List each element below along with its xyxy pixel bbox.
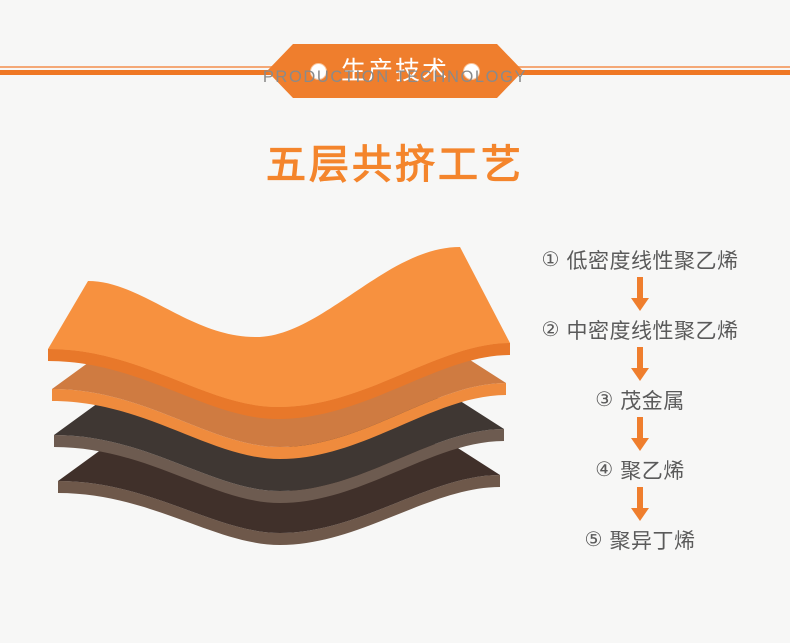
list-item: ② 中密度线性聚乙烯	[500, 315, 780, 345]
legend-number: ③	[595, 390, 613, 410]
list-item: ① 低密度线性聚乙烯	[500, 245, 780, 275]
legend-number: ①	[542, 250, 560, 270]
legend-label: 聚异丁烯	[609, 525, 695, 555]
arrow-down-icon	[500, 415, 780, 455]
legend-number: ⑤	[585, 530, 603, 550]
arrow-down-icon	[500, 345, 780, 385]
legend-label: 低密度线性聚乙烯	[566, 245, 738, 275]
legend-label: 茂金属	[620, 385, 685, 415]
legend-label: 中密度线性聚乙烯	[566, 315, 738, 345]
list-item: ④ 聚乙烯	[500, 455, 780, 485]
list-item: ⑤ 聚异丁烯	[500, 525, 780, 555]
legend-label: 聚乙烯	[620, 455, 685, 485]
legend-number: ②	[542, 320, 560, 340]
layer-stack-svg	[30, 225, 530, 545]
arrow-down-icon	[500, 275, 780, 315]
five-layer-sheet-illustration	[30, 225, 530, 545]
legend-number: ④	[595, 460, 613, 480]
production-technology-page: 生产技术 PRODUCTION TECHNOLOGY 五层共挤工艺	[0, 0, 790, 643]
legend-list: ① 低密度线性聚乙烯 ② 中密度线性聚乙烯 ③ 茂金属 ④	[500, 245, 780, 555]
list-item: ③ 茂金属	[500, 385, 780, 415]
arrow-down-icon	[500, 485, 780, 525]
banner-subtitle: PRODUCTION TECHNOLOGY	[0, 68, 790, 87]
page-title: 五层共挤工艺	[0, 143, 790, 187]
